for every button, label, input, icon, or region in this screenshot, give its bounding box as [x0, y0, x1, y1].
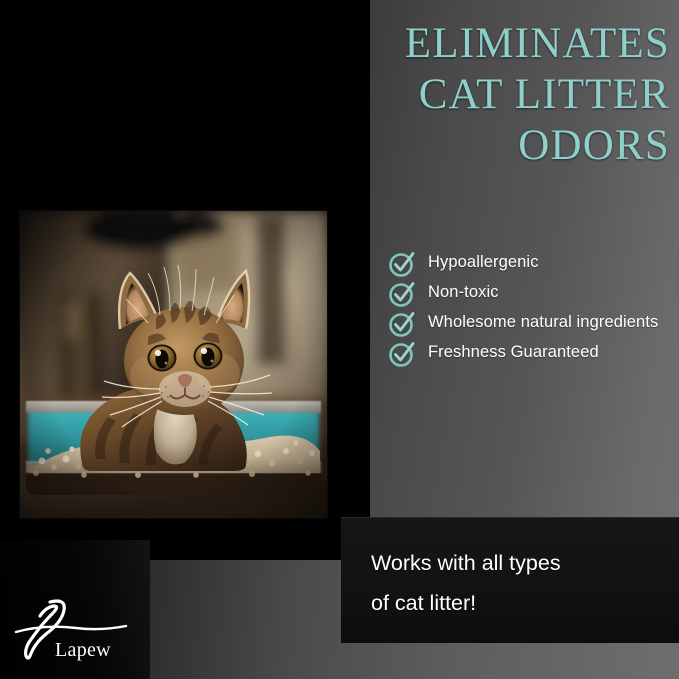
caption-box: Works with all types of cat litter! — [341, 517, 679, 643]
check-circle-icon — [389, 311, 415, 337]
promo-image-canvas: ELIMINATES CAT LITTER ODORS — [0, 0, 679, 679]
check-circle-icon — [389, 281, 415, 307]
list-item: Wholesome natural ingredients — [389, 310, 674, 336]
list-item-label: Freshness Guaranteed — [428, 340, 599, 366]
brand-logo: Lapew — [14, 598, 144, 668]
check-circle-icon — [389, 251, 415, 277]
list-item: Hypoallergenic — [389, 250, 674, 276]
list-item: Non-toxic — [389, 280, 674, 306]
caption-text: Works with all types of cat litter! — [371, 543, 661, 623]
feature-list: Hypoallergenic Non-toxic Wholesome natur… — [389, 250, 674, 370]
list-item-label: Hypoallergenic — [428, 250, 539, 276]
list-item-label: Non-toxic — [428, 280, 499, 306]
product-photo — [20, 211, 327, 518]
list-item: Freshness Guaranteed — [389, 340, 674, 366]
brand-wordmark: Lapew — [55, 639, 111, 662]
headline: ELIMINATES CAT LITTER ODORS — [300, 18, 670, 171]
list-item-label: Wholesome natural ingredients — [428, 310, 658, 336]
kitten-photo-illustration — [20, 211, 327, 518]
check-circle-icon — [389, 341, 415, 367]
